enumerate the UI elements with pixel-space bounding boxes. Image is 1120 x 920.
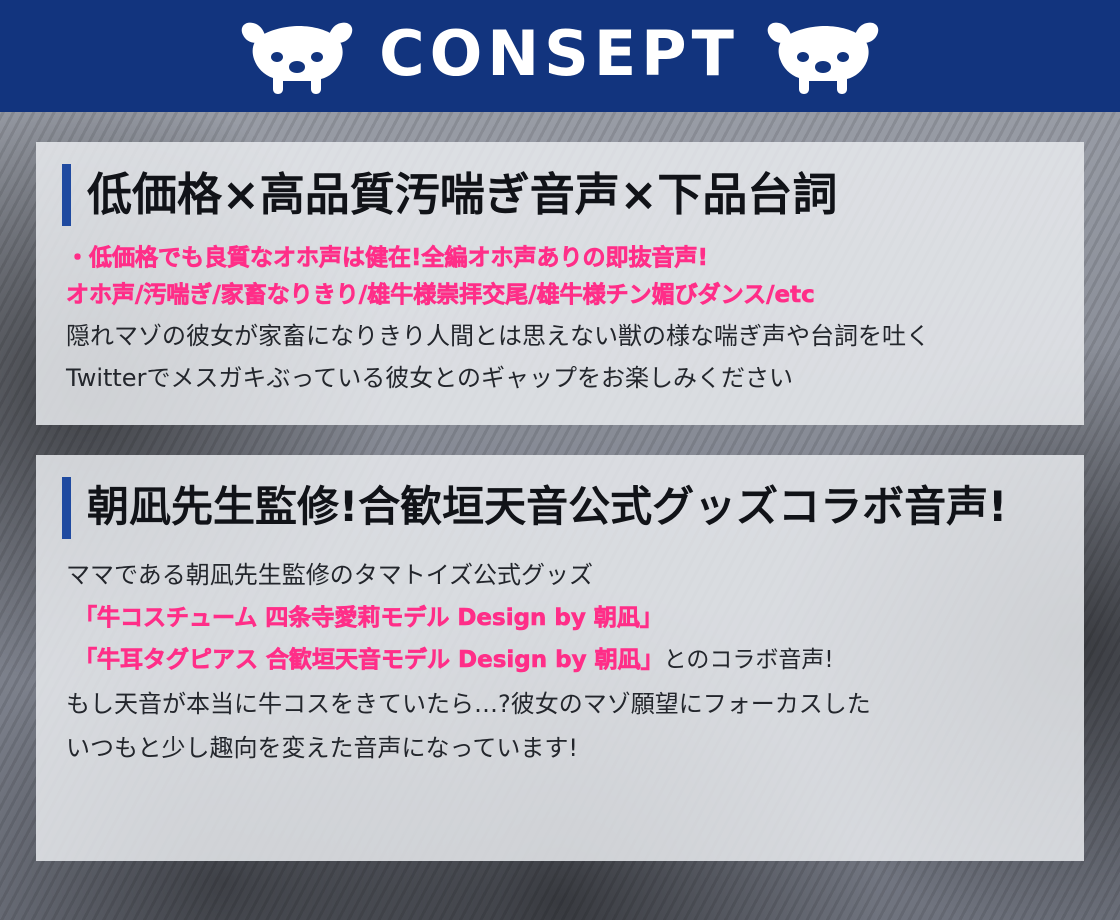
accent-bar — [62, 477, 71, 539]
body-line-with-suffix: 「牛耳タグピアス 合歓垣天音モデル Design by 朝凪」とのコラボ音声! — [66, 639, 1058, 682]
concept-section-2: 朝凪先生監修!合歓垣天音公式グッズコラボ音声! ママである朝凪先生監修のタマトイ… — [36, 455, 1084, 861]
section-1-body: ・低価格でも良質なオホ声は健在!全編オホ声ありの即抜音声! オホ声/汚喘ぎ/家畜… — [62, 240, 1058, 399]
concept-page: CONSEPT 低価格×高品質汚喘ぎ音声×下品台詞 ・低価格でも良質なオホ声は健… — [0, 0, 1120, 920]
body-line: オホ声/汚喘ぎ/家畜なりきり/雄牛様崇拝交尾/雄牛様チン媚びダンス/etc — [66, 277, 1058, 314]
section-headline: 朝凪先生監修!合歓垣天音公式グッズコラボ音声! — [62, 477, 1058, 539]
body-line: 「牛コスチューム 四条寺愛莉モデル Design by 朝凪」 — [66, 597, 1058, 640]
section-1-heading: 低価格×高品質汚喘ぎ音声×下品台詞 — [87, 171, 837, 218]
body-line: ・低価格でも良質なオホ声は健在!全編オホ声ありの即抜音声! — [66, 240, 1058, 277]
section-headline: 低価格×高品質汚喘ぎ音声×下品台詞 — [62, 164, 1058, 226]
body-line: 隠れマゾの彼女が家畜になりきり人間とは思えない獣の様な喘ぎ声や台詞を吐く — [66, 315, 1058, 357]
body-line: Twitterでメスガキぶっている彼女とのギャップをお楽しみください — [66, 357, 1058, 399]
cow-icon — [237, 17, 357, 95]
body-line: いつもと少し趣向を変えた音声になっています! — [66, 726, 1058, 770]
body-line: ママである朝凪先生監修のタマトイズ公式グッズ — [66, 553, 1058, 597]
page-title: CONSEPT — [379, 23, 739, 89]
section-2-heading: 朝凪先生監修!合歓垣天音公式グッズコラボ音声! — [87, 485, 1007, 529]
body-line: もし天音が本当に牛コスをきていたら…?彼女のマゾ願望にフォーカスした — [66, 682, 1058, 726]
body-line-suffix: とのコラボ音声! — [664, 647, 834, 673]
body-line-main: 「牛耳タグピアス 合歓垣天音モデル Design by 朝凪」 — [74, 647, 664, 673]
cow-icon — [763, 17, 883, 95]
page-header: CONSEPT — [0, 0, 1120, 112]
accent-bar — [62, 164, 71, 226]
section-2-body: ママである朝凪先生監修のタマトイズ公式グッズ 「牛コスチューム 四条寺愛莉モデル… — [62, 553, 1058, 771]
concept-section-1: 低価格×高品質汚喘ぎ音声×下品台詞 ・低価格でも良質なオホ声は健在!全編オホ声あ… — [36, 142, 1084, 425]
concept-sections: 低価格×高品質汚喘ぎ音声×下品台詞 ・低価格でも良質なオホ声は健在!全編オホ声あ… — [0, 112, 1120, 861]
